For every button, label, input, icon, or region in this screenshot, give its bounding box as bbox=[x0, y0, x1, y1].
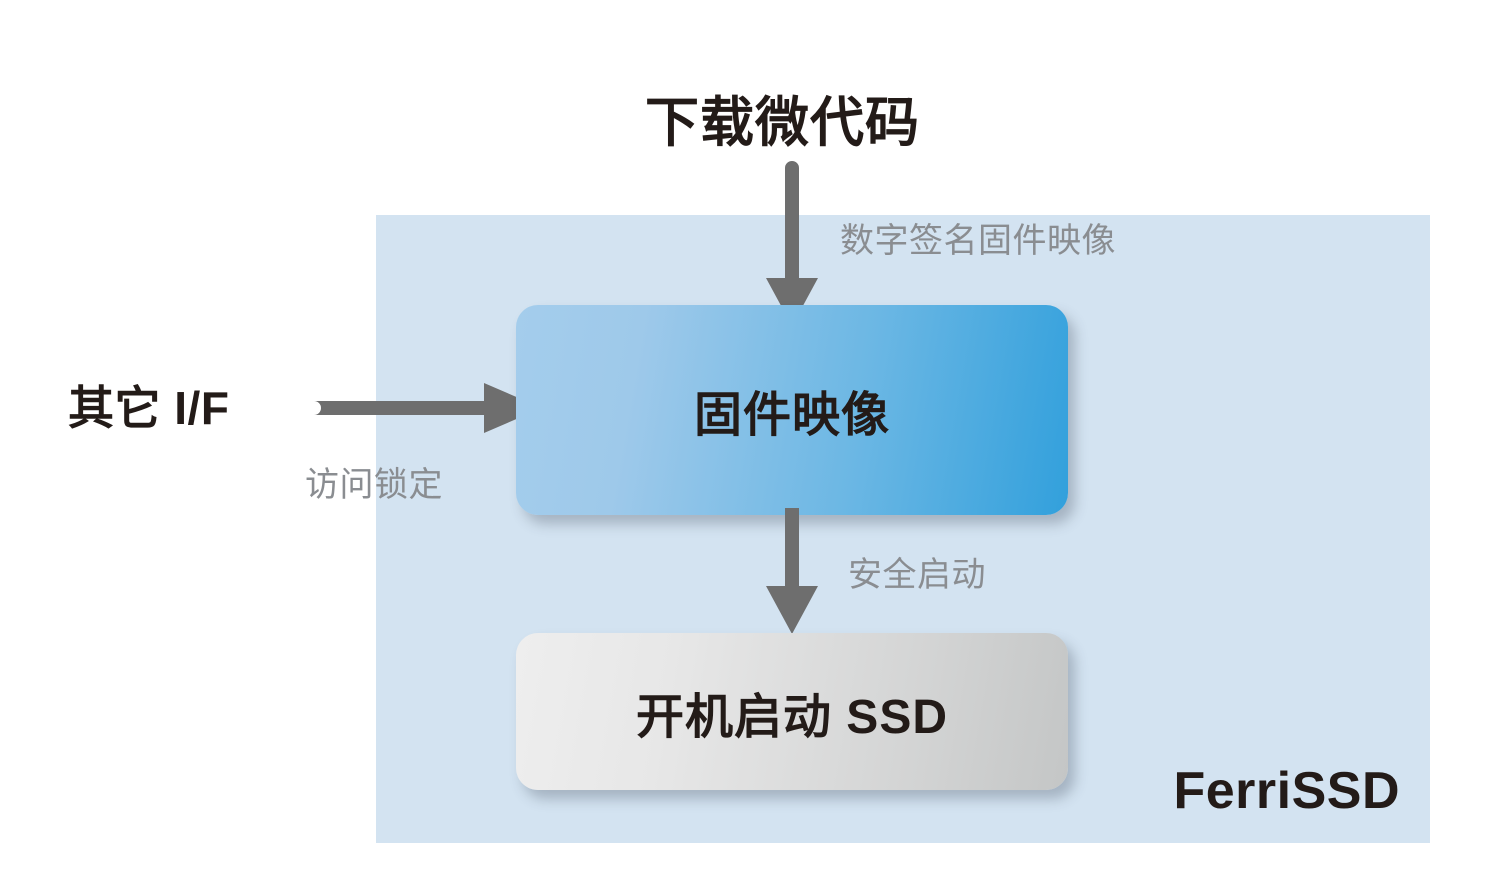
diagram-title: 下载微代码 bbox=[645, 78, 920, 157]
arrow-otherif-to-firmware-icon bbox=[306, 380, 546, 436]
node-boot-ssd[interactable]: 开机启动 SSD bbox=[516, 633, 1068, 790]
edge-caption-access-lock: 访问锁定 bbox=[305, 457, 443, 506]
arrow-firmware-to-boot-icon bbox=[752, 508, 832, 638]
node-boot-ssd-label: 开机启动 SSD bbox=[636, 677, 948, 747]
external-input-label-other-if: 其它 I/F bbox=[68, 372, 229, 438]
diagram-canvas: FerriSSD 下载微代码 其它 I/F 数字签名固件映像 访问锁定 固件映像… bbox=[0, 0, 1500, 869]
node-firmware-image[interactable]: 固件映像 bbox=[516, 305, 1068, 515]
edge-caption-secure-boot: 安全启动 bbox=[848, 547, 986, 596]
ferrissd-panel-label: FerriSSD bbox=[1173, 761, 1400, 821]
edge-caption-signed-firmware-image: 数字签名固件映像 bbox=[840, 213, 1116, 262]
node-firmware-image-label: 固件映像 bbox=[694, 375, 890, 445]
